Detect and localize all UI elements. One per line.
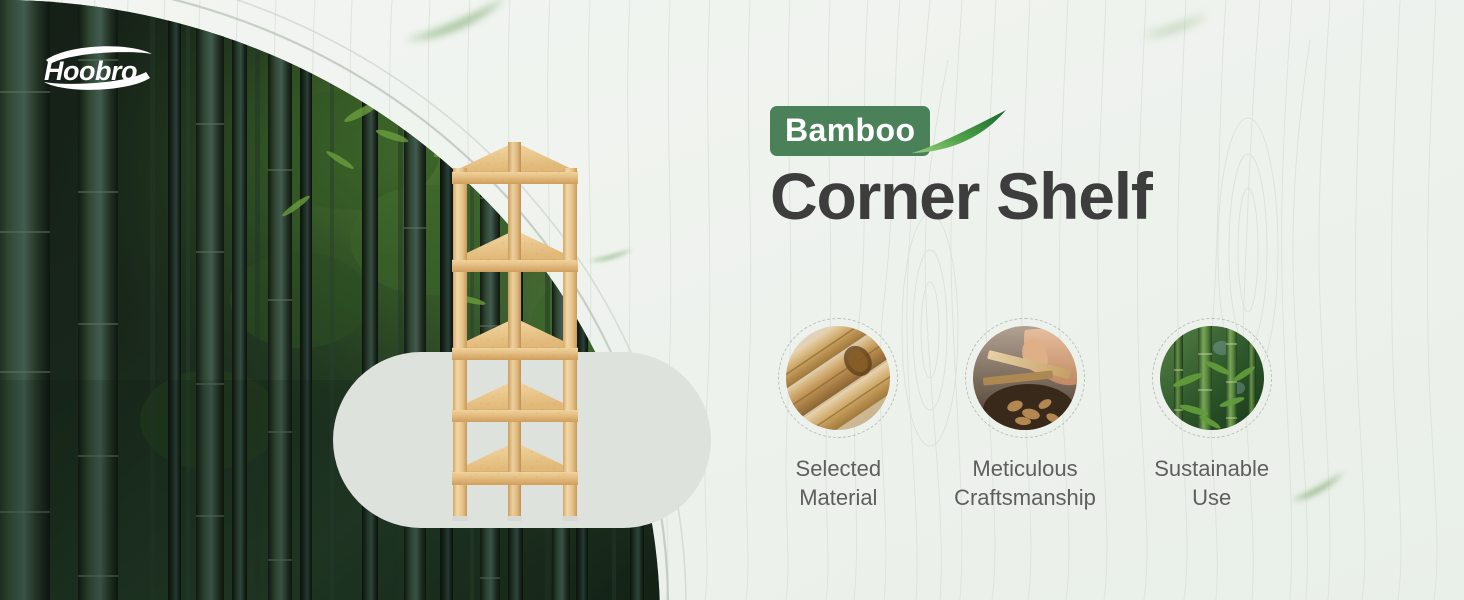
green-bamboo-photo <box>1160 326 1264 430</box>
badge-row: Bamboo <box>770 106 1152 152</box>
feature-meticulous-craftsmanship: Meticulous Craftsmanship <box>932 318 1119 512</box>
product-banner: Hoobro Bamboo Corner Shelf <box>0 0 1464 600</box>
feature-sustainable-use: Sustainable Use <box>1118 318 1305 512</box>
bamboo-leaf-icon <box>910 108 1010 156</box>
page-title: Corner Shelf <box>770 162 1152 231</box>
feature-label: Meticulous Craftsmanship <box>932 454 1119 512</box>
logo-wordmark: Hoobro <box>44 56 137 86</box>
feature-row: Selected Material <box>745 318 1305 512</box>
bamboo-poles-photo <box>786 326 890 430</box>
bamboo-badge: Bamboo <box>770 106 930 156</box>
feature-selected-material: Selected Material <box>745 318 932 512</box>
feature-circle <box>778 318 898 438</box>
hoobro-logo[interactable]: Hoobro <box>38 40 158 96</box>
feature-circle <box>1152 318 1272 438</box>
feature-label: Selected Material <box>745 454 932 512</box>
headline-block: Bamboo Corner Shelf <box>770 106 1152 231</box>
feature-label: Sustainable Use <box>1118 454 1305 512</box>
bamboo-corner-shelf <box>440 128 590 528</box>
feature-circle <box>965 318 1085 438</box>
hand-crafting-photo <box>973 326 1077 430</box>
